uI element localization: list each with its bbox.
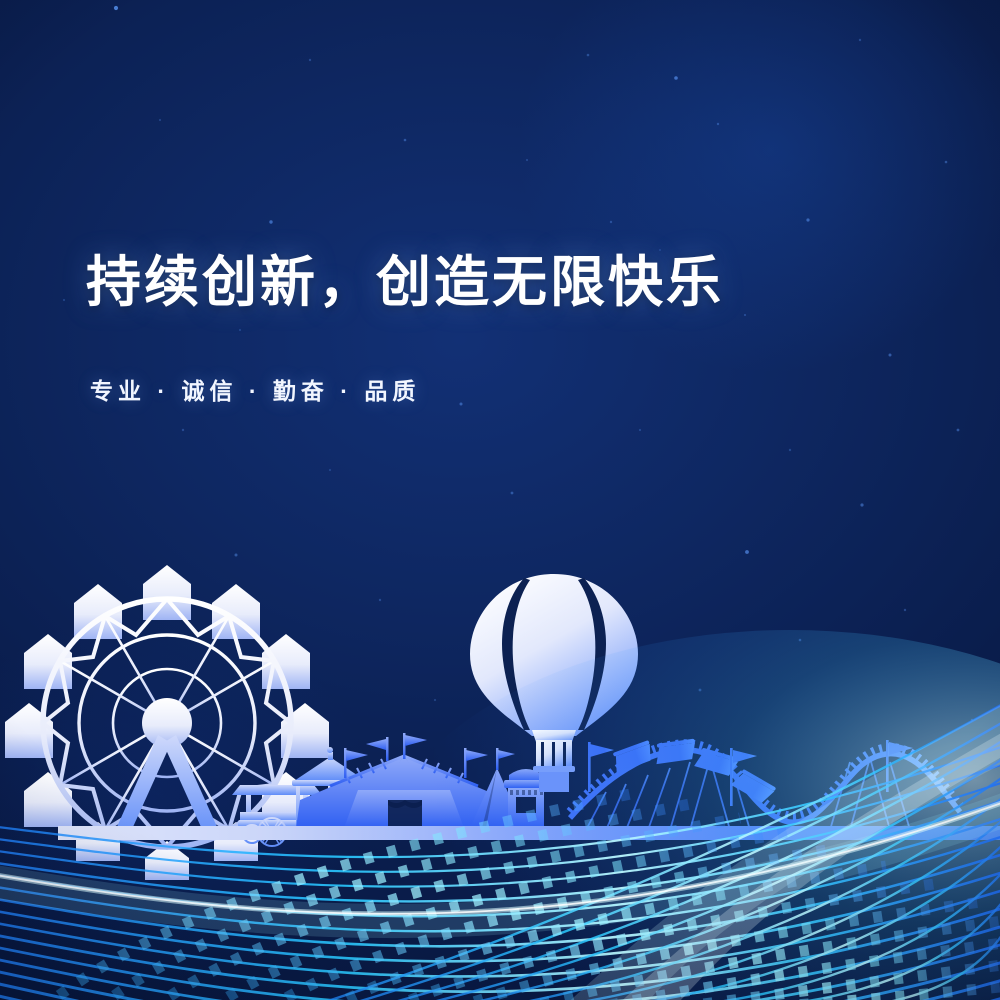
vignette-overlay — [0, 0, 1000, 1000]
banner-canvas: 持续创新，创造无限快乐 专业 · 诚信 · 勤奋 · 品质 — [0, 0, 1000, 1000]
